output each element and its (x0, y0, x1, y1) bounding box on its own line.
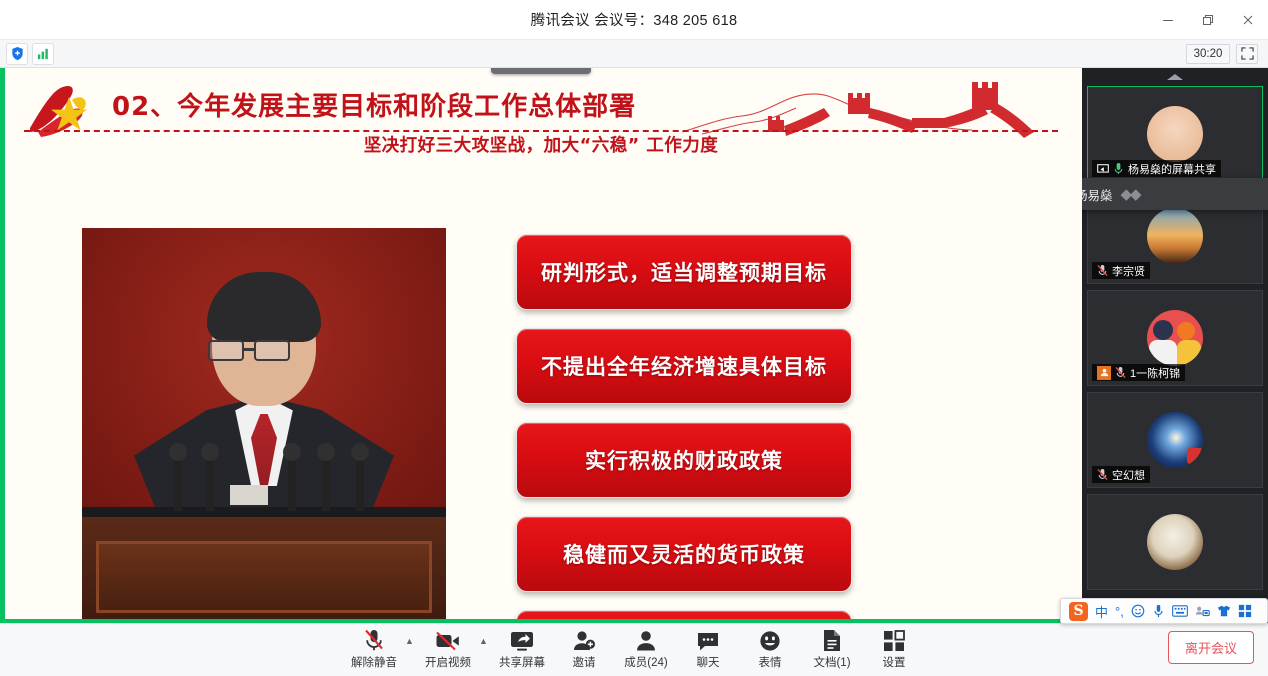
slide-title: 02、今年发展主要目标和阶段工作总体部署 (112, 86, 636, 123)
ime-soft-keyboard-button[interactable] (1172, 605, 1188, 617)
photo-microphone (174, 455, 182, 511)
sub-toolbar: 30:20 (0, 40, 1268, 68)
speaker-photo (82, 228, 446, 623)
participant-tile[interactable]: 杨易燊的屏幕共享 (1087, 86, 1263, 182)
avatar (1147, 412, 1203, 468)
ime-logo-icon[interactable]: S (1069, 602, 1088, 621)
participant-label: 1一陈柯锦 (1092, 364, 1185, 381)
audio-options-caret[interactable]: ▲ (405, 636, 417, 662)
ime-emoji-button[interactable] (1131, 604, 1145, 618)
scroll-up-icon (1165, 72, 1185, 82)
participants-button[interactable]: 成员(24) (615, 628, 677, 670)
settings-grid-icon (883, 628, 905, 652)
speaking-tooltip-text: 正在讲话: 杨易燊 (1082, 185, 1112, 204)
leave-meeting-button[interactable]: 离开会议 (1168, 631, 1254, 664)
shield-plus-icon (10, 46, 25, 61)
chevron-decoration-icon: ◆◆ (1120, 185, 1139, 203)
ime-skin-button[interactable] (1217, 604, 1231, 618)
chat-label: 聊天 (697, 654, 720, 670)
sub-toolbar-right: 30:20 (1186, 44, 1268, 64)
network-status-button[interactable] (32, 43, 54, 65)
photo-glasses-bridge (244, 348, 254, 351)
unmute-button[interactable]: 解除静音 (343, 628, 405, 670)
speaking-tooltip: 正在讲话: 杨易燊 ◆◆ (1082, 178, 1268, 210)
ime-punctuation-button[interactable]: °, (1115, 604, 1124, 619)
avatar (1147, 514, 1203, 570)
camera-off-icon (435, 628, 461, 652)
photo-glasses-left (208, 340, 244, 361)
document-icon (822, 628, 842, 652)
emoji-button[interactable]: 表情 (739, 628, 801, 670)
photo-podium (82, 513, 446, 623)
security-button[interactable] (6, 43, 28, 65)
participant-tile[interactable] (1087, 494, 1263, 590)
slide-point-box: 不提出全年经济增速具体目标 (516, 328, 852, 404)
photo-microphone (356, 455, 364, 511)
avatar (1147, 208, 1203, 264)
minimize-icon (1162, 14, 1174, 26)
screen-share-indicator-left (0, 68, 5, 623)
tencent-meeting-window: 腾讯会议 会议号：348 205 618 (0, 0, 1268, 676)
emoji-label: 表情 (759, 654, 782, 670)
ime-chinese-mode-button[interactable]: 中 (1095, 602, 1108, 621)
participant-tile[interactable]: 空幻想 (1087, 392, 1263, 488)
window-controls (1148, 0, 1268, 40)
photo-microphone (206, 455, 214, 511)
participant-label: 空幻想 (1092, 466, 1150, 483)
participant-name: 杨易燊的屏幕共享 (1128, 161, 1216, 177)
toolbar-buttons: 解除静音 ▲ 开启视频 ▲ (343, 628, 925, 673)
invite-label: 邀请 (573, 654, 596, 670)
photo-podium-panel (96, 541, 432, 613)
slide-subtitle: 坚决打好三大攻坚战，加大“六稳” 工作力度 (0, 132, 1082, 157)
documents-label: 文档(1) (813, 654, 850, 670)
unmute-label: 解除静音 (351, 654, 397, 670)
restore-icon (1202, 14, 1214, 26)
slide-point-box: 实行积极的财政政策 (516, 422, 852, 498)
share-screen-label: 共享屏幕 (499, 654, 545, 670)
chat-icon (696, 628, 720, 652)
participant-tile[interactable]: 1一陈柯锦 (1087, 290, 1263, 386)
settings-button[interactable]: 设置 (863, 628, 925, 670)
mic-muted-icon (1097, 468, 1108, 481)
participants-panel: 杨易燊的屏幕共享 李宗贤 (1082, 68, 1268, 623)
start-video-label: 开启视频 (425, 654, 471, 670)
settings-label: 设置 (883, 654, 906, 670)
start-video-button[interactable]: 开启视频 (417, 628, 479, 670)
documents-button[interactable]: 文档(1) (801, 628, 863, 670)
photo-glasses-right (254, 340, 290, 361)
ime-input-switch-button[interactable] (1195, 605, 1210, 618)
mic-muted-icon (1115, 366, 1126, 379)
participant-label: 李宗贤 (1092, 262, 1150, 279)
host-badge (1097, 366, 1111, 380)
ime-toolbar[interactable]: S 中 °, (1060, 598, 1268, 624)
sub-toolbar-left (0, 43, 54, 65)
skin-icon (1217, 604, 1231, 618)
close-button[interactable] (1228, 0, 1268, 40)
slide-points-list: 研判形式，适当调整预期目标 不提出全年经济增速具体目标 实行积极的财政政策 稳健… (516, 234, 852, 623)
video-options-caret[interactable]: ▲ (479, 636, 491, 662)
screen-share-icon (1097, 163, 1109, 175)
title-bar: 腾讯会议 会议号：348 205 618 (0, 0, 1268, 40)
invite-user-icon (572, 628, 596, 652)
participant-name: 李宗贤 (1112, 263, 1145, 279)
soft-keyboard-icon (1172, 605, 1188, 617)
emoji-icon (759, 628, 781, 652)
participant-label: 杨易燊的屏幕共享 (1092, 160, 1221, 177)
avatar (1147, 310, 1203, 366)
photo-mic-rail (82, 507, 446, 517)
meeting-toolbar: 解除静音 ▲ 开启视频 ▲ (0, 623, 1268, 676)
fullscreen-button[interactable] (1236, 44, 1258, 64)
screen-share-indicator-bottom (0, 619, 1082, 623)
ime-toolbox-button[interactable] (1238, 604, 1252, 618)
emoji-icon (1131, 604, 1145, 618)
screen-share-icon (509, 628, 535, 652)
host-user-icon (1100, 368, 1109, 377)
participant-name: 空幻想 (1112, 467, 1145, 483)
mic-muted-icon (1113, 162, 1124, 175)
photo-microphone (288, 455, 296, 511)
panel-scroll-up-button[interactable] (1082, 68, 1268, 86)
photo-nameplate (230, 485, 268, 505)
photo-microphone (322, 455, 330, 511)
mic-muted-icon (363, 628, 385, 652)
participants-icon (634, 628, 658, 652)
fullscreen-icon (1241, 47, 1254, 60)
mic-muted-icon (1097, 264, 1108, 277)
input-switch-icon (1195, 605, 1210, 618)
chat-button[interactable]: 聊天 (677, 628, 739, 670)
window-title: 腾讯会议 会议号：348 205 618 (531, 9, 738, 30)
slide-point-box: 稳健而又灵活的货币政策 (516, 516, 852, 592)
slide-body: 研判形式，适当调整预期目标 不提出全年经济增速具体目标 实行积极的财政政策 稳健… (0, 160, 1082, 623)
meeting-timer: 30:20 (1186, 44, 1230, 64)
minimize-button[interactable] (1148, 0, 1188, 40)
voice-input-icon (1152, 604, 1165, 618)
toolbox-icon (1238, 604, 1252, 618)
participant-name: 1一陈柯锦 (1130, 365, 1180, 381)
close-icon (1242, 14, 1254, 26)
slide-point-box: 研判形式，适当调整预期目标 (516, 234, 852, 310)
shared-screen-stage[interactable]: 02、今年发展主要目标和阶段工作总体部署 (0, 68, 1082, 623)
presentation-slide: 02、今年发展主要目标和阶段工作总体部署 (0, 68, 1082, 623)
signal-bars-icon (36, 46, 51, 61)
participants-label: 成员(24) (624, 654, 667, 670)
avatar (1147, 106, 1203, 162)
restore-button[interactable] (1188, 0, 1228, 40)
invite-button[interactable]: 邀请 (553, 628, 615, 670)
floating-toolbar-tab[interactable] (491, 68, 591, 74)
ime-voice-input-button[interactable] (1152, 604, 1165, 618)
share-screen-button[interactable]: 共享屏幕 (491, 628, 553, 670)
